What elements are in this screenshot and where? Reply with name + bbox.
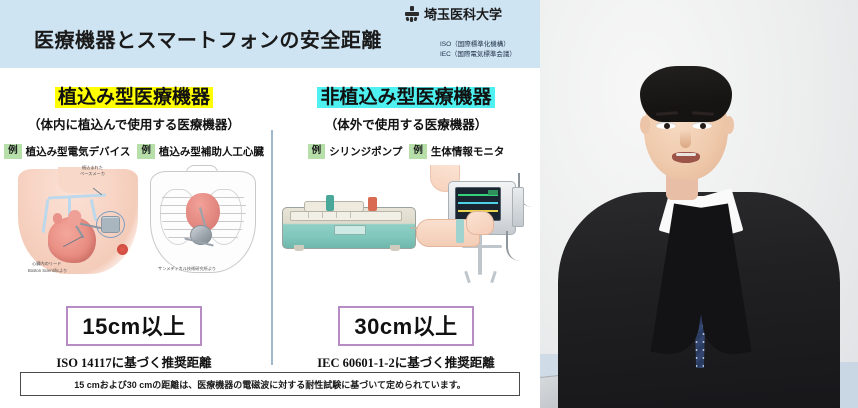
- example-label: 植込み型補助人工心臓: [159, 144, 264, 159]
- presenter-video-feed[interactable]: [540, 0, 858, 408]
- figure-annotation-lead: 心臓内のリード: [32, 261, 61, 267]
- monitor-cable: [506, 231, 528, 261]
- example-item: 例 植込み型電気デバイス: [4, 144, 130, 159]
- figure-credit: Boston Scientificより: [28, 268, 67, 274]
- university-branding: 埼玉医科大学: [404, 4, 502, 23]
- example-badge: 例: [409, 144, 427, 159]
- distance-box: 15cm以上: [66, 306, 201, 346]
- pump-display: [334, 225, 366, 235]
- anatomy-marker: [117, 244, 128, 255]
- implanted-pacemaker-illustration: 植込まれたペースメーカ 心臓内のリード Boston Scientificより: [10, 163, 140, 281]
- ear-left: [640, 116, 650, 134]
- person-hand: [466, 211, 494, 235]
- distance-box: 30cm以上: [338, 306, 473, 346]
- footer-note-box: 15 cmおよび30 cmの距離は、医療機器の電磁波に対する耐性試験に基づいて定…: [20, 372, 520, 396]
- distance-standard-note: IEC 60601-1-2に基づく推奨距離: [272, 352, 540, 371]
- aorta-shape: [66, 209, 82, 227]
- example-label: 植込み型電気デバイス: [26, 144, 131, 159]
- university-emblem-icon: [404, 6, 420, 22]
- lapel-microphone-icon: [685, 372, 691, 385]
- pupil-right: [700, 123, 706, 129]
- syringe-barrel: [304, 201, 364, 212]
- presenter-suit: [558, 192, 840, 408]
- column-title-non-implantable: 非植込み型医療機器: [272, 82, 540, 109]
- university-name: 埼玉医科大学: [424, 4, 502, 23]
- nose: [680, 130, 691, 148]
- pacemaker-device-icon: [101, 216, 120, 233]
- ribcage-shape: [144, 167, 260, 275]
- implantable-lvad-illustration: サンメディカル技術研究所より: [140, 163, 266, 281]
- presentation-slide: 医療機器とスマートフォンの安全距離 埼玉医科大学 ISO（国際標準化機構） IE…: [0, 0, 540, 408]
- illustration-row-implantable: 植込まれたペースメーカ 心臓内のリード Boston Scientificより: [0, 163, 268, 281]
- illustration-row-non-implantable: [272, 163, 540, 281]
- pump-clamp-knob: [368, 197, 377, 211]
- vein: [42, 199, 50, 233]
- example-item: 例 シリンジポンプ: [308, 144, 403, 159]
- distance-value: 30cm以上: [354, 309, 457, 341]
- column-title-implantable: 植込み型医療機器: [0, 82, 268, 109]
- torso-shape: [18, 169, 138, 274]
- spo2-waveform: [458, 202, 498, 204]
- example-badge: 例: [137, 144, 155, 159]
- distance-value: 15cm以上: [82, 309, 185, 341]
- standards-organizations: ISO（国際標準化機構） IEC（国際電気標準会議）: [440, 40, 516, 60]
- column-title-text: 非植込み型医療機器: [317, 87, 494, 108]
- monitor-module-bay: [512, 187, 524, 227]
- screen: 医療機器とスマートフォンの安全距離 埼玉医科大学 ISO（国際標準化機構） IE…: [0, 0, 858, 408]
- syringe-plunger: [326, 195, 334, 211]
- example-label: 生体情報モニタ: [431, 144, 505, 159]
- column-title-text: 植込み型医療機器: [55, 87, 213, 108]
- vessel-shape: [53, 213, 62, 224]
- column-subtitle-non-implantable: （体外で使用する医療機器）: [272, 114, 540, 133]
- mouth: [672, 152, 700, 163]
- vital-value-block: [488, 190, 498, 195]
- vein: [48, 193, 106, 199]
- example-item: 例 生体情報モニタ: [409, 144, 504, 159]
- distance-block-non-implantable: 30cm以上 IEC 60601-1-2に基づく推奨距離: [272, 306, 540, 371]
- patient-monitor-illustration: [422, 167, 534, 279]
- slide-title: 医療機器とスマートフォンの安全距離: [34, 24, 382, 53]
- footer-note-text: 15 cmおよび30 cmの距離は、医療機器の電磁波に対する耐性試験に基づいて定…: [74, 378, 466, 391]
- presenter-hair: [640, 66, 732, 122]
- example-row-implantable: 例 植込み型電気デバイス 例 植込み型補助人工心臓: [0, 144, 268, 159]
- syringe-pump-illustration: [282, 193, 418, 255]
- example-item: 例 植込み型補助人工心臓: [137, 144, 264, 159]
- standard-org-iso: ISO（国際標準化機構）: [440, 40, 516, 50]
- column-subtitle-implantable: （体内に植込んで使用する医療機器）: [0, 114, 268, 133]
- bp-cuff: [456, 219, 464, 243]
- figure-annotation-pacemaker: 植込まれたペースメーカ: [80, 165, 105, 177]
- example-row-non-implantable: 例 シリンジポンプ 例 生体情報モニタ: [272, 144, 540, 159]
- distance-block-implantable: 15cm以上 ISO 14117に基づく推奨距離: [0, 306, 268, 371]
- ear-right: [724, 116, 734, 134]
- example-badge: 例: [308, 144, 326, 159]
- distance-standard-note: ISO 14117に基づく推奨距離: [0, 352, 268, 371]
- example-badge: 例: [4, 144, 22, 159]
- standard-org-iec: IEC（国際電気標準会議）: [440, 50, 516, 60]
- pump-rail: [290, 211, 402, 221]
- pupil-left: [664, 123, 670, 129]
- figure-credit: サンメディカル技術研究所より: [158, 266, 216, 272]
- example-label: シリンジポンプ: [329, 144, 402, 159]
- vein: [90, 199, 98, 221]
